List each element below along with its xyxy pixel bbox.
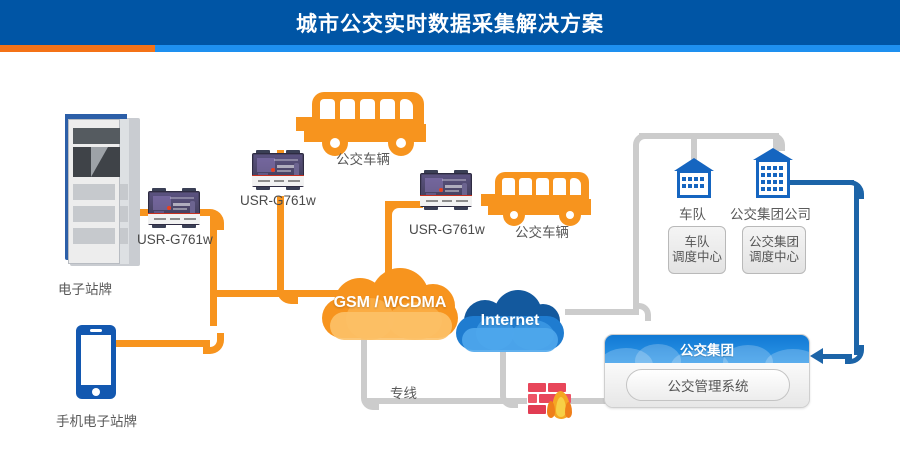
stripe-orange-segment [0,45,155,52]
sign-panel-cell [73,206,115,222]
group-center-line1: 公交集团 [749,235,799,250]
usr-g761w-label-2: USR-G761w [240,193,316,208]
firewall-icon [528,383,574,419]
panel-header: 公交集团 [605,335,809,363]
link-corner-phone [203,333,224,354]
bus-vehicle-top [296,92,426,152]
bus-management-system-label: 公交管理系统 [668,375,749,395]
fleet-center-line2: 调度中心 [672,250,722,265]
diagram-canvas: 城市公交实时数据采集解决方案 [0,0,900,474]
link-gray-riser [633,145,639,305]
link-corner-busmid [385,201,406,222]
dedicated-line-label: 专线 [390,382,417,402]
header-stripe [0,45,900,52]
blue-arrowhead-icon [810,348,823,364]
stripe-blue-segment [155,45,900,52]
link-gray-top-bus [639,133,779,139]
sign-side-cell [120,184,128,200]
sign-side-cell [120,206,128,222]
bus-group-panel[interactable]: 公交集团 公交管理系统 [604,334,810,408]
bus-mid-label: 公交车辆 [515,221,569,241]
phone-home-button [92,388,100,396]
bus-top-label: 公交车辆 [336,148,390,168]
link-corner-internet [500,390,518,408]
mobile-electronic-sign [76,325,116,399]
mobile-sign-label: 手机电子站牌 [56,410,137,430]
link-phone-horizontal [116,340,210,347]
link-corner-internet-right [633,303,651,321]
electronic-stop-sign [62,114,140,266]
cloud-gsm-wcdma: GSM / WCDMA [316,268,464,340]
cloud-internet: Internet [452,288,568,352]
sign-display-main [73,147,120,177]
phone-speaker [90,329,102,332]
link-internet-right [565,309,639,315]
sign-panel-cell [73,184,115,200]
usr-g761w-label-3: USR-G761w [409,222,485,237]
phone-screen [81,335,111,385]
fleet-building-label: 车队 [679,203,706,223]
fleet-center-line1: 车队 [684,235,709,250]
link-gsm-down-gray [361,330,367,398]
group-company-label: 公交集团公司 [730,203,811,223]
link-bustop-down [277,196,284,284]
link-corner-bustop [277,283,298,304]
header-bar: 城市公交实时数据采集解决方案 [0,0,900,45]
bus-management-system-button[interactable]: 公交管理系统 [626,369,790,401]
fleet-dispatch-center-box[interactable]: 车队 调度中心 [668,226,726,274]
panel-title-text: 公交集团 [605,335,809,363]
usr-g761w-device-3 [418,170,474,210]
cloud-gsm-label: GSM / WCDMA [316,294,464,312]
group-company-building-icon [752,148,794,198]
usr-g761w-device-1 [146,188,202,228]
cloud-internet-label: Internet [452,312,568,330]
group-center-line2: 调度中心 [749,250,799,265]
fleet-building-icon [674,158,714,198]
electronic-sign-label: 电子站牌 [58,278,112,298]
page-title: 城市公交实时数据采集解决方案 [0,0,900,45]
sign-display-top [73,128,120,144]
link-blue-into-panel [822,354,852,359]
link-blue-vertical [854,185,859,355]
bus-vehicle-mid [481,172,591,224]
panel-body: 公交管理系统 [605,363,809,408]
usr-g761w-label-1: USR-G761w [137,232,213,247]
sign-panel-cell [73,228,115,244]
sign-side-cell [120,228,128,244]
usr-g761w-device-2 [250,150,306,190]
group-dispatch-center-box[interactable]: 公交集团 调度中心 [742,226,806,274]
